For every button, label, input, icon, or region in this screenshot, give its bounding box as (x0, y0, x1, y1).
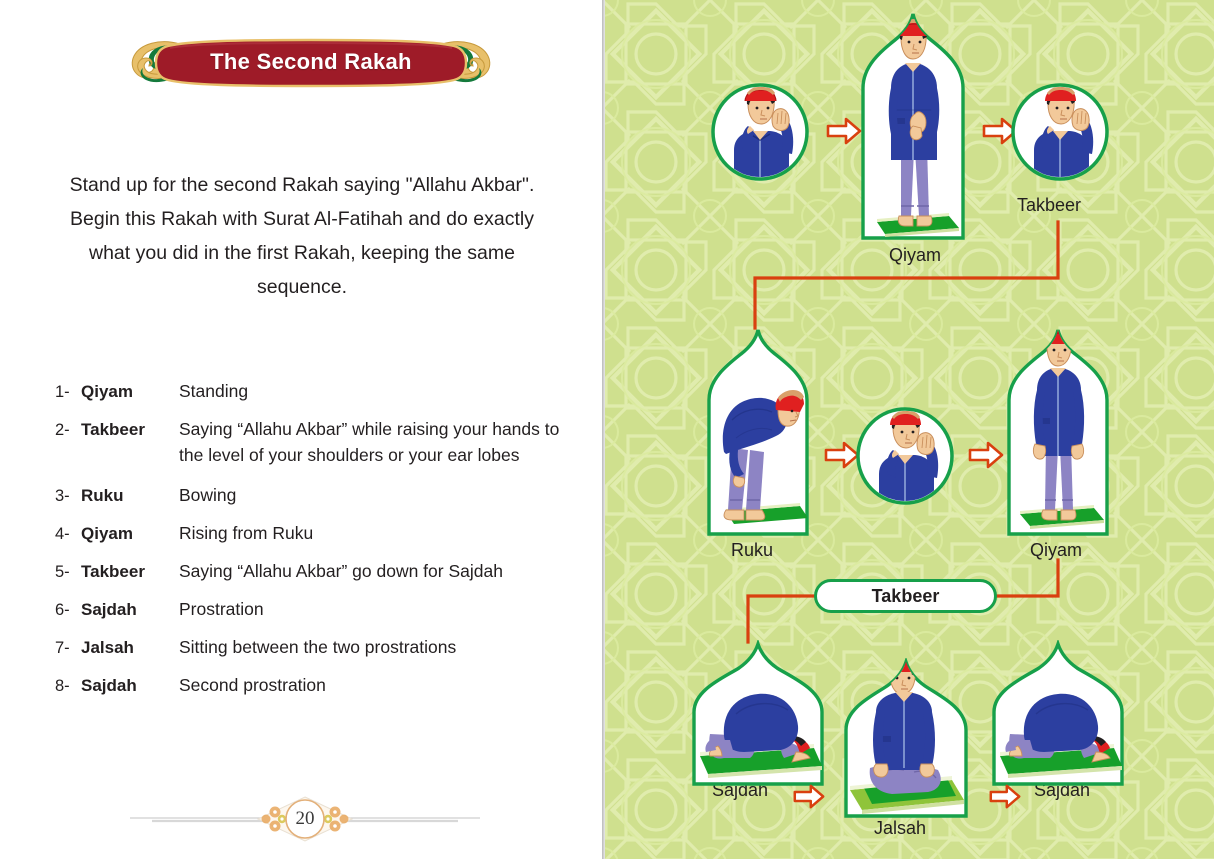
step-description: Standing (179, 378, 575, 404)
arrow-4-icon (968, 440, 1004, 475)
step-number: 8- (55, 672, 81, 699)
list-item: 2- Takbeer Saying “Allahu Akbar” while r… (55, 416, 575, 468)
arrow-6-icon (989, 783, 1021, 815)
step-description: Bowing (179, 482, 575, 508)
list-item: 8- Sajdah Second prostration (55, 672, 575, 699)
steps-list: 1- Qiyam Standing 2- Takbeer Saying “All… (55, 378, 575, 710)
figure-sajdah-left (688, 640, 828, 788)
step-name: Qiyam (81, 378, 179, 405)
list-item: 3- Ruku Bowing (55, 482, 575, 509)
label-jalsah: Jalsah (874, 818, 926, 839)
page-footer: 20 (130, 795, 480, 843)
figure-takbeer-inset-1 (710, 82, 810, 182)
section-banner: The Second Rakah (118, 32, 504, 94)
step-number: 5- (55, 558, 81, 585)
takbeer-pill-badge: Takbeer (814, 579, 997, 613)
step-name: Takbeer (81, 416, 179, 443)
label-takbeer-top: Takbeer (1017, 195, 1081, 216)
list-item: 4- Qiyam Rising from Ruku (55, 520, 575, 547)
figure-ruku-bowing (702, 326, 814, 538)
step-name: Sajdah (81, 672, 179, 699)
step-description: Sitting between the two prostrations (179, 634, 575, 660)
intro-paragraph: Stand up for the second Rakah saying "Al… (60, 168, 544, 304)
figure-qiyam-standing-1 (857, 10, 969, 242)
label-qiyam-mid: Qiyam (1030, 540, 1082, 561)
left-page: The Second Rakah Stand up for the second… (0, 0, 602, 859)
figure-takbeer-inset-3 (855, 406, 955, 506)
figure-jalsah-sitting (840, 658, 972, 820)
step-number: 4- (55, 520, 81, 547)
label-takbeer-pill: Takbeer (872, 586, 940, 607)
figure-takbeer-inset-2 (1010, 82, 1110, 182)
step-number: 3- (55, 482, 81, 509)
step-name: Ruku (81, 482, 179, 509)
step-number: 6- (55, 596, 81, 623)
step-number: 7- (55, 634, 81, 661)
step-description: Saying “Allahu Akbar” while raising your… (179, 416, 575, 468)
step-name: Takbeer (81, 558, 179, 585)
right-page: Qiyam (602, 0, 1214, 859)
step-name: Sajdah (81, 596, 179, 623)
step-number: 1- (55, 378, 81, 405)
label-ruku: Ruku (731, 540, 773, 561)
list-item: 7- Jalsah Sitting between the two prostr… (55, 634, 575, 661)
page-number: 20 (296, 808, 315, 830)
book-spread: The Second Rakah Stand up for the second… (0, 0, 1214, 859)
label-qiyam-top: Qiyam (889, 245, 941, 266)
page-gutter (602, 0, 605, 859)
step-name: Qiyam (81, 520, 179, 547)
step-description: Rising from Ruku (179, 520, 575, 546)
step-name: Jalsah (81, 634, 179, 661)
list-item: 6- Sajdah Prostration (55, 596, 575, 623)
figure-qiyam-standing-2 (1002, 326, 1114, 538)
page-title: The Second Rakah (118, 32, 504, 94)
figure-sajdah-right (988, 640, 1128, 788)
step-number: 2- (55, 416, 81, 443)
arrow-5-icon (793, 783, 825, 815)
step-description: Second prostration (179, 672, 575, 698)
step-description: Saying “Allahu Akbar” go down for Sajdah (179, 558, 575, 584)
step-description: Prostration (179, 596, 575, 622)
list-item: 5- Takbeer Saying “Allahu Akbar” go down… (55, 558, 575, 585)
list-item: 1- Qiyam Standing (55, 378, 575, 405)
